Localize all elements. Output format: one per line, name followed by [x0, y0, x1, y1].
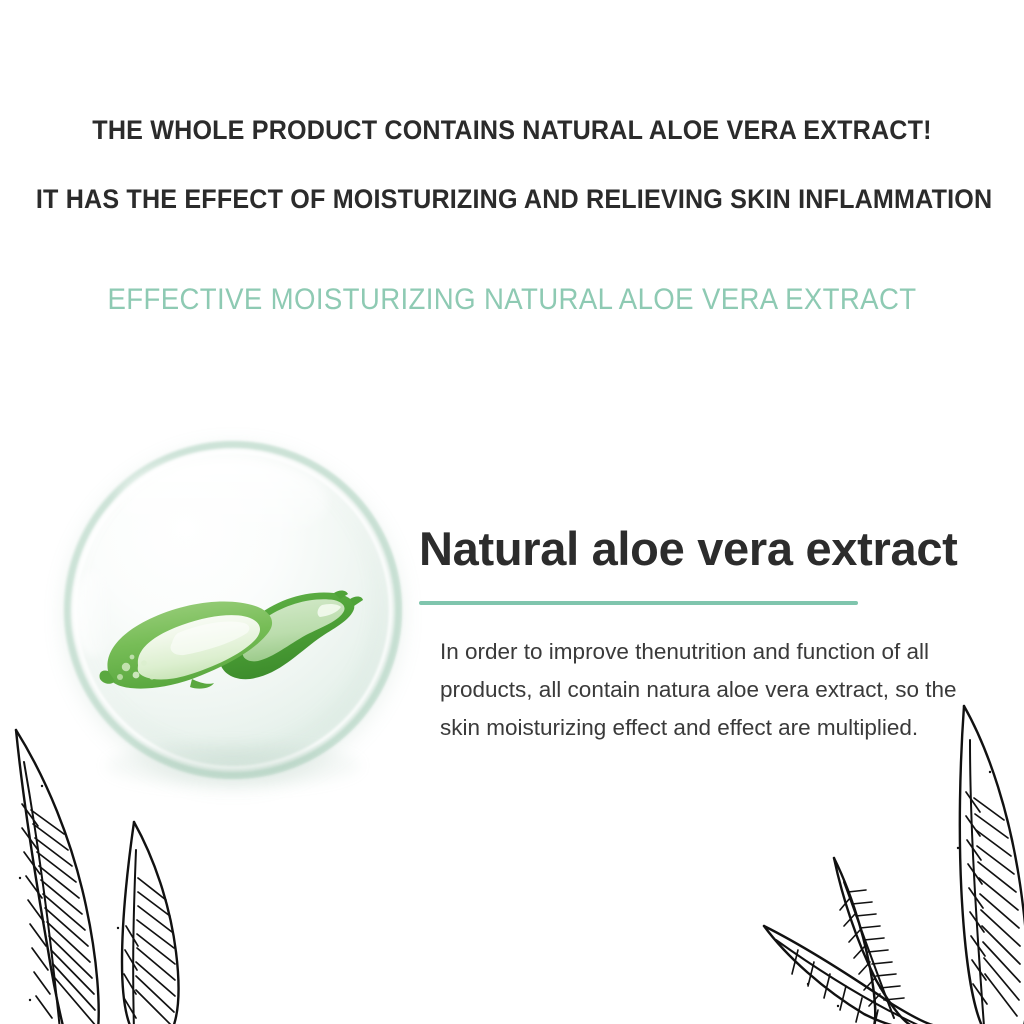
- gel-sphere-highlight-top: [118, 458, 328, 546]
- headline-primary-text: THE WHOLE PRODUCT CONTAINS NATURAL ALOE …: [36, 114, 988, 146]
- headline-secondary-text: IT HAS THE EFFECT OF MOISTURIZING AND RE…: [36, 183, 988, 215]
- product-banner: THE WHOLE PRODUCT CONTAINS NATURAL ALOE …: [0, 0, 1024, 1024]
- subtitle-text: EFFECTIVE MOISTURIZING NATURAL ALOE VERA…: [41, 282, 983, 318]
- headline-secondary: IT HAS THE EFFECT OF MOISTURIZING AND RE…: [0, 183, 1024, 215]
- content-title: Natural aloe vera extract: [419, 522, 999, 576]
- subtitle: EFFECTIVE MOISTURIZING NATURAL ALOE VERA…: [0, 282, 1024, 318]
- content-divider: [419, 601, 858, 605]
- gel-sphere-shadow: [105, 742, 362, 789]
- aloe-gel-sphere-image: [64, 441, 402, 779]
- content-body-text: In order to improve thenutrition and fun…: [440, 633, 970, 747]
- aloe-slices-icon: [82, 559, 382, 709]
- headline-primary: THE WHOLE PRODUCT CONTAINS NATURAL ALOE …: [0, 114, 1024, 146]
